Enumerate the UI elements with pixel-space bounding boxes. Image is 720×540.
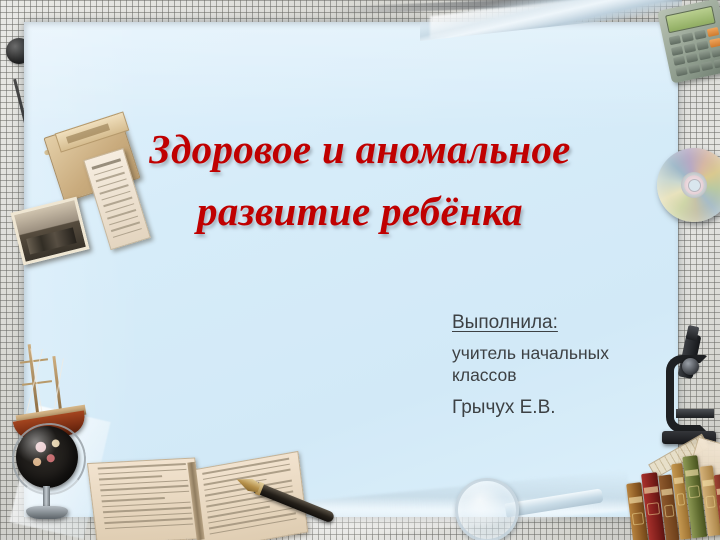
slide-subtitle: Выполнила: учитель начальных классов Гры… [452, 310, 666, 420]
slide-content-sheet [24, 22, 678, 517]
subtitle-role: учитель начальных классов [452, 342, 666, 386]
subtitle-author-name: Грычух Е.В. [452, 396, 666, 420]
presentation-slide: Здоровое и аномальное развитие ребёнка В… [0, 0, 720, 540]
subtitle-heading: Выполнила: [452, 310, 666, 336]
sheet-texture [24, 22, 678, 517]
